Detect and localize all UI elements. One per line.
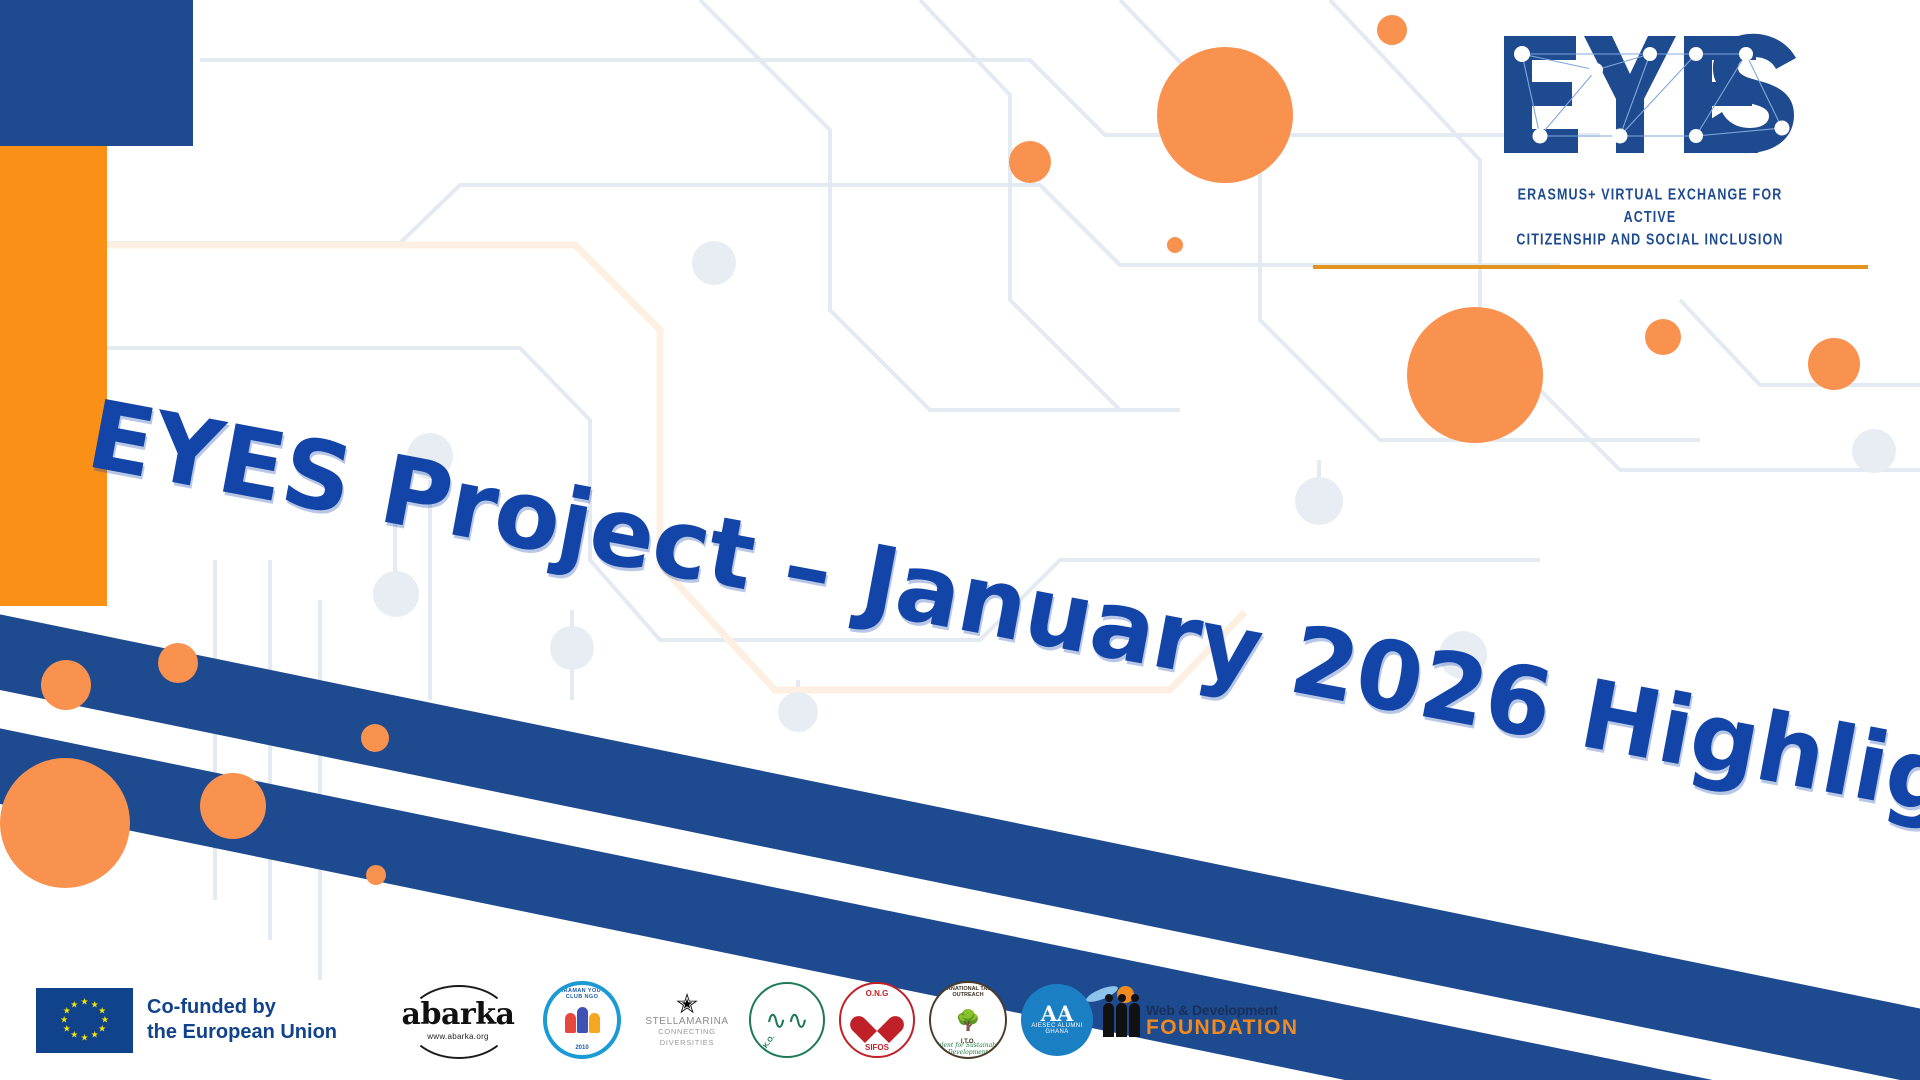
decorative-dot-orange [1808,338,1860,390]
eu-flag-star-icon: ★ [91,1031,99,1040]
footer-logo-strip: ★★★★★★★★★★★★ Co-funded by the European U… [0,960,1920,1080]
logo-underline-rule [1313,265,1868,269]
decorative-dot-orange [361,724,389,752]
kyc-people-icon [565,1007,600,1033]
ito-motto: Talent for Sustainable Development [931,1042,1005,1056]
eu-flag-star-icon: ★ [63,1024,71,1033]
eko-abbrev: E.K.O. [759,1034,777,1055]
decorative-dot-orange [366,865,386,885]
eu-flag-star-icon: ★ [80,998,88,1007]
eyes-logo-tagline: ERASMUS+ VIRTUAL EXCHANGE FOR ACTIVE CIT… [1500,183,1800,251]
decorative-dot-orange [41,660,91,710]
slide-canvas: ERASMUS+ VIRTUAL EXCHANGE FOR ACTIVE CIT… [0,0,1920,1080]
eu-flag-star-icon: ★ [60,1016,68,1025]
decorative-dot-pale [778,692,818,732]
eyes-logo: ERASMUS+ VIRTUAL EXCHANGE FOR ACTIVE CIT… [1500,32,1800,237]
aiesec-line-2: GHANA [1045,1029,1068,1035]
partner-logo-eko: ∿∿ E.K.O. [749,982,825,1058]
wdf-line-2: FOUNDATION [1146,1017,1298,1038]
decorative-dot-orange [1645,319,1681,355]
decorative-dot-pale [1295,477,1343,525]
ong-bottom-label: SIFOS [841,1043,913,1052]
eu-flag-star-icon: ★ [70,1000,78,1009]
ong-heart-icon [860,1005,894,1035]
decorative-dot-orange [1157,47,1293,183]
eu-flag-icon: ★★★★★★★★★★★★ [36,988,133,1053]
eu-cofunding-block: ★★★★★★★★★★★★ Co-funded by the European U… [36,988,337,1053]
wdf-line-1: Web & Development [1146,1003,1298,1017]
partner-logo-aiesec-alumni-ghana: AA AIESEC ALUMNI GHANA [1021,984,1093,1056]
kyc-year: 2010 [547,1045,617,1051]
decorative-dot-pale [692,241,736,285]
stellamarina-sub-2: DIVERSITIES [660,1038,714,1048]
eko-wave-icon: ∿∿ [765,1005,809,1036]
eu-text-line-1: Co-funded by [147,995,337,1020]
eu-text-line-2: the European Union [147,1020,337,1045]
partner-logo-web-and-development-foundation: Web & Development FOUNDATION [1103,989,1281,1051]
eu-cofunding-text: Co-funded by the European Union [147,995,337,1045]
partner-logo-stellamarina: ✭ STELLAMARINA CONNECTING DIVERSITIES [639,983,735,1057]
abarka-wordmark: abarka [402,1000,515,1030]
aiesec-mark: AA [1041,1005,1074,1023]
eyes-wordmark-icon [1500,32,1800,177]
decorative-dot-pale [550,626,594,670]
decorative-dot-orange [1407,307,1543,443]
eu-flag-star-icon: ★ [80,1033,88,1042]
decorative-dot-orange [200,773,266,839]
tagline-line-2: CITIZENSHIP AND SOCIAL INCLUSION [1500,228,1800,251]
ong-top-label: O.N.G [841,989,913,998]
eu-flag-star-icon: ★ [70,1031,78,1040]
eu-flag-star-icon: ★ [98,1024,106,1033]
ito-tree-icon: 🌳 [956,1008,981,1033]
stellamarina-sub-1: CONNECTING [658,1027,715,1037]
stellamarina-wordmark: STELLAMARINA [645,1016,728,1027]
decorative-dot-orange [158,643,198,683]
partner-logo-ong-sifos: O.N.G SIFOS [839,982,915,1058]
abarka-url: www.abarka.org [427,1032,489,1041]
tagline-line-1: ERASMUS+ VIRTUAL EXCHANGE FOR ACTIVE [1500,183,1800,228]
decorative-dot-orange [1167,237,1183,253]
decorative-dot-pale [373,571,419,617]
partner-logo-international-talent-outreach: INTERNATIONAL TALENT OUTREACH 🌳 I.T.O. T… [929,981,1007,1059]
decorative-dot-orange [1009,141,1051,183]
decorative-dot-orange [1377,15,1407,45]
wdf-people-icon [1103,1003,1140,1037]
decorative-dot-pale [1852,429,1896,473]
partner-logo-abarka: abarka www.abarka.org [399,983,517,1057]
kyc-rim-text: KARAMAN YOUTH CLUB NGO [547,988,617,1000]
ito-top-label: INTERNATIONAL TALENT OUTREACH [931,986,1005,998]
partner-logo-karaman-youth-club-ngo: KARAMAN YOUTH CLUB NGO 2010 [543,981,621,1059]
stellamarina-star-icon: ✭ [676,992,699,1016]
decorative-dot-orange [0,758,130,888]
